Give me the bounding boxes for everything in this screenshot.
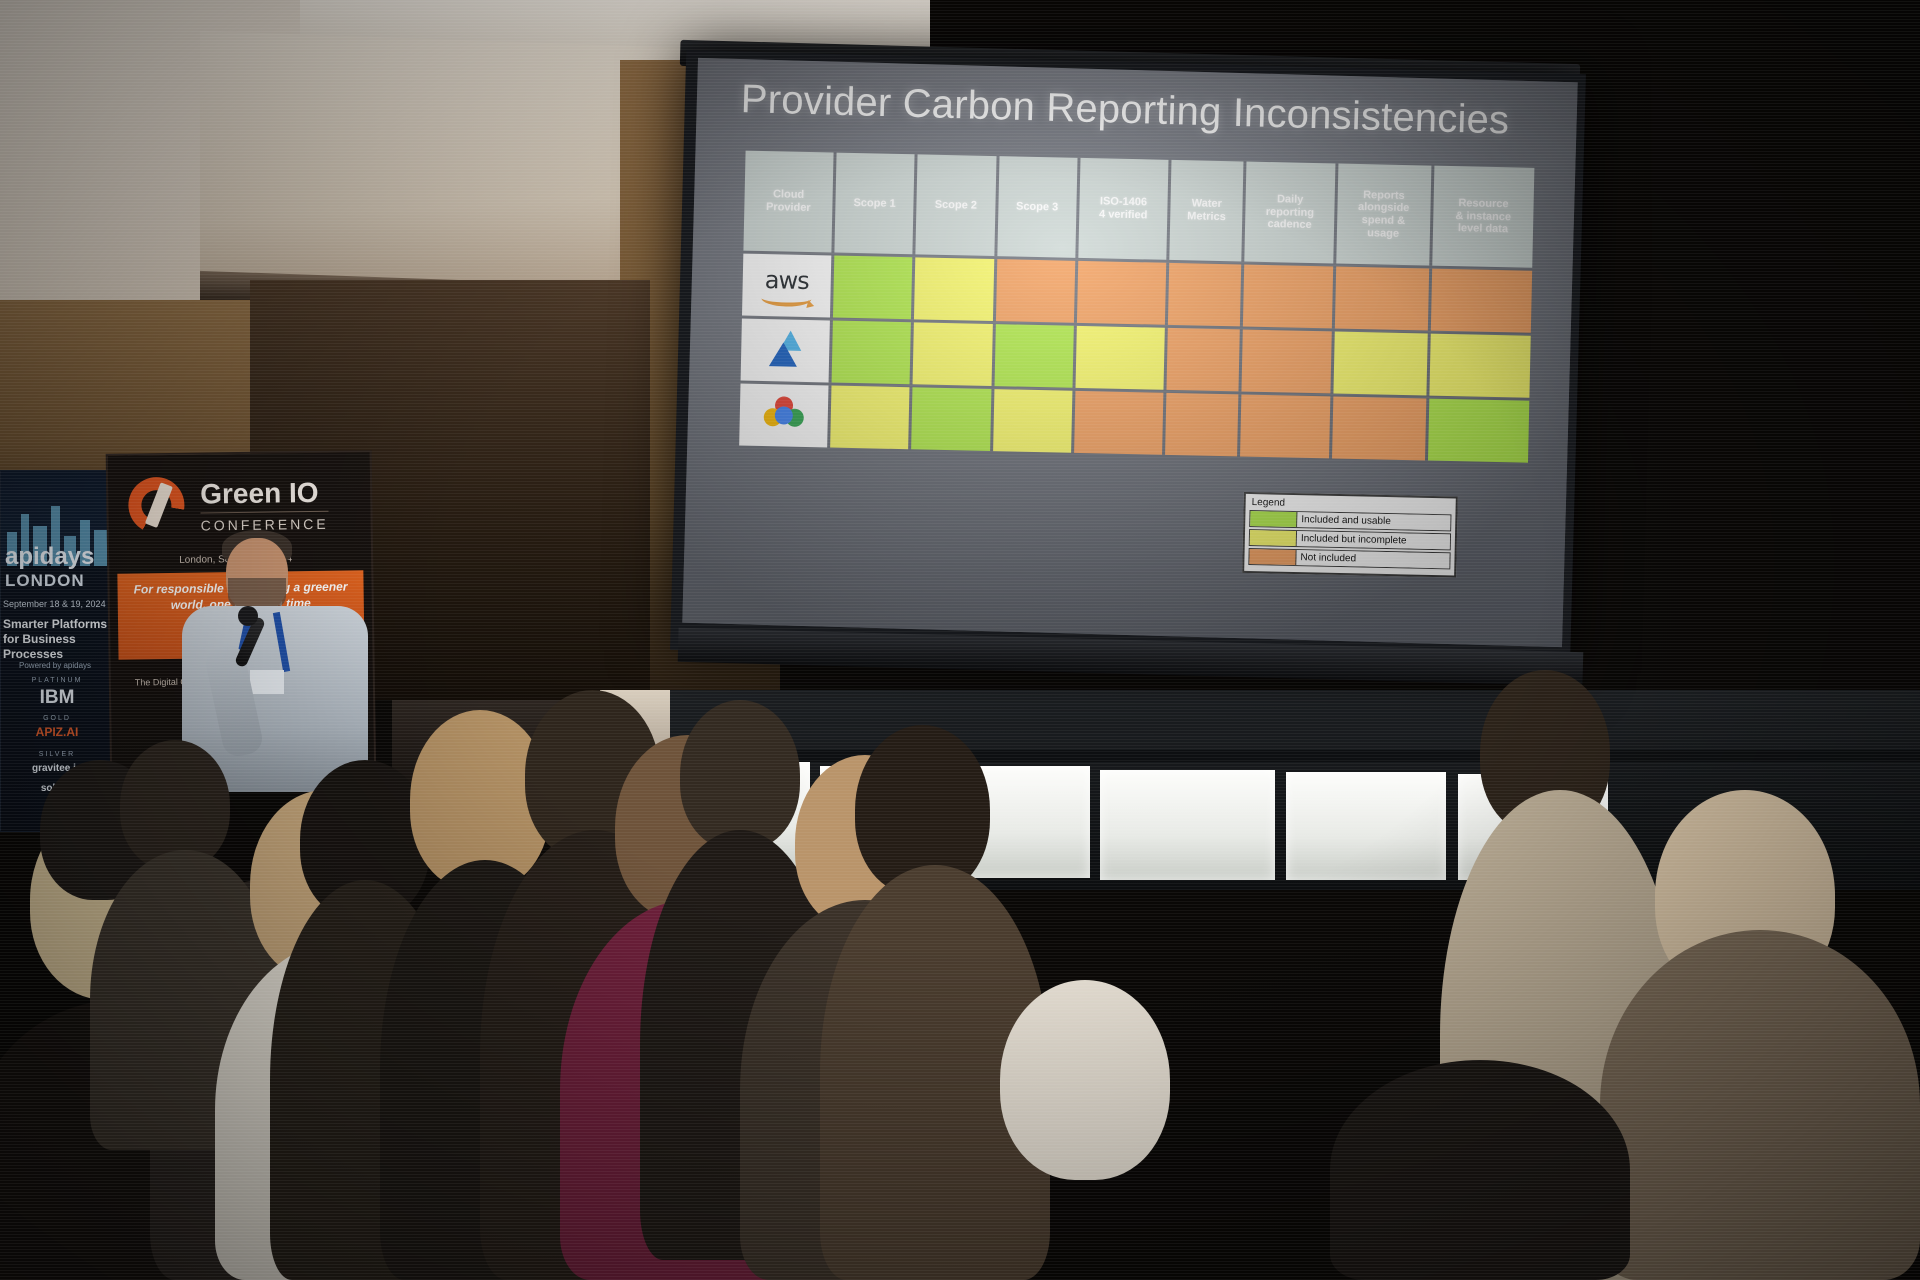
legend-swatch-yellow	[1250, 530, 1297, 546]
window-pane	[1100, 770, 1275, 880]
slide-title: Provider Carbon Reporting Inconsistencie…	[740, 77, 1521, 144]
cell	[1242, 329, 1332, 393]
cell	[1240, 394, 1330, 458]
green-io-title: Green IO	[200, 477, 319, 511]
legend-item-included-usable: Included and usable	[1249, 510, 1451, 531]
cell	[1168, 263, 1242, 327]
col-header-reports-spend-usage: Reports alongside spend & usage	[1336, 164, 1431, 266]
col-header-resource-instance-data: Resource & instance level data	[1432, 166, 1534, 268]
cell	[911, 387, 991, 451]
carbon-reporting-table: Cloud Provider Scope 1 Scope 2 Scope 3 I…	[736, 148, 1537, 466]
col-header-water-metrics: Water Metrics	[1169, 160, 1244, 262]
audience-member	[1600, 930, 1920, 1280]
cell	[1074, 391, 1164, 455]
row-label-aws: aws	[742, 254, 831, 318]
window-mullion	[620, 750, 1920, 762]
window-pane	[1286, 772, 1446, 880]
tier-label-silver: SILVER	[1, 751, 113, 758]
cell	[1429, 334, 1531, 398]
legend-label: Included and usable	[1297, 512, 1450, 530]
audience-member	[680, 700, 800, 850]
legend-label: Not included	[1296, 550, 1449, 568]
google-cloud-logo-icon	[764, 396, 805, 431]
apidays-dates: September 18 & 19, 2024	[3, 599, 106, 609]
col-header-scope-2: Scope 2	[916, 154, 996, 256]
cell	[1165, 393, 1239, 457]
azure-logo-icon	[765, 328, 806, 369]
aws-smile-icon	[761, 290, 811, 307]
apidays-city: LONDON	[5, 571, 85, 591]
cell	[993, 389, 1073, 453]
table-row	[739, 384, 1529, 463]
cell	[1333, 331, 1427, 395]
cell	[1075, 326, 1165, 390]
sponsor-platinum: IBM	[1, 687, 113, 709]
audience-member	[1330, 1060, 1630, 1280]
cell	[1332, 396, 1426, 460]
row-label-azure	[741, 319, 830, 383]
cell	[1334, 267, 1428, 331]
cell	[913, 322, 993, 386]
sponsor-gold: APIZ.AI	[1, 725, 113, 739]
col-header-iso-14064: ISO-1406 4 verified	[1078, 158, 1168, 260]
audience-member	[1000, 980, 1170, 1180]
cell	[1243, 265, 1333, 329]
cell	[830, 386, 910, 450]
tier-label-platinum: PLATINUM	[1, 677, 113, 684]
row-label-google-cloud	[739, 384, 828, 448]
microphone-head	[238, 606, 258, 626]
col-header-cloud-provider: Cloud Provider	[743, 151, 833, 253]
legend: Legend Included and usable Included but …	[1242, 492, 1458, 578]
conference-photo: Provider Carbon Reporting Inconsistencie…	[0, 0, 1920, 1280]
cell	[1077, 261, 1167, 325]
apidays-name: apidays	[5, 543, 94, 571]
legend-label: Included but incomplete	[1297, 531, 1450, 549]
cell	[833, 256, 913, 320]
col-header-scope-1: Scope 1	[834, 153, 914, 255]
aws-logo-icon: aws	[755, 268, 818, 303]
cell	[832, 321, 912, 385]
legend-item-not-included: Not included	[1248, 548, 1450, 569]
cell	[1431, 269, 1533, 333]
table-body: aws	[739, 254, 1532, 463]
speaker-badge	[250, 670, 284, 694]
apidays-tagline: Smarter Platforms for Business Processes	[3, 617, 113, 662]
legend-item-included-incomplete: Included but incomplete	[1249, 529, 1451, 550]
cell	[994, 324, 1074, 388]
cell	[1167, 328, 1241, 392]
cell	[1428, 399, 1530, 463]
legend-swatch-green	[1250, 511, 1297, 527]
projection-screen: Provider Carbon Reporting Inconsistencie…	[682, 58, 1577, 647]
legend-swatch-orange	[1249, 549, 1296, 565]
cell	[995, 259, 1075, 323]
col-header-scope-3: Scope 3	[997, 156, 1077, 258]
cell	[914, 257, 994, 321]
apidays-powered-by: Powered by apidays	[19, 661, 91, 670]
col-header-daily-cadence: Daily reporting cadence	[1245, 162, 1335, 264]
table-header-row: Cloud Provider Scope 1 Scope 2 Scope 3 I…	[743, 151, 1534, 268]
tier-label-gold: GOLD	[1, 715, 113, 722]
